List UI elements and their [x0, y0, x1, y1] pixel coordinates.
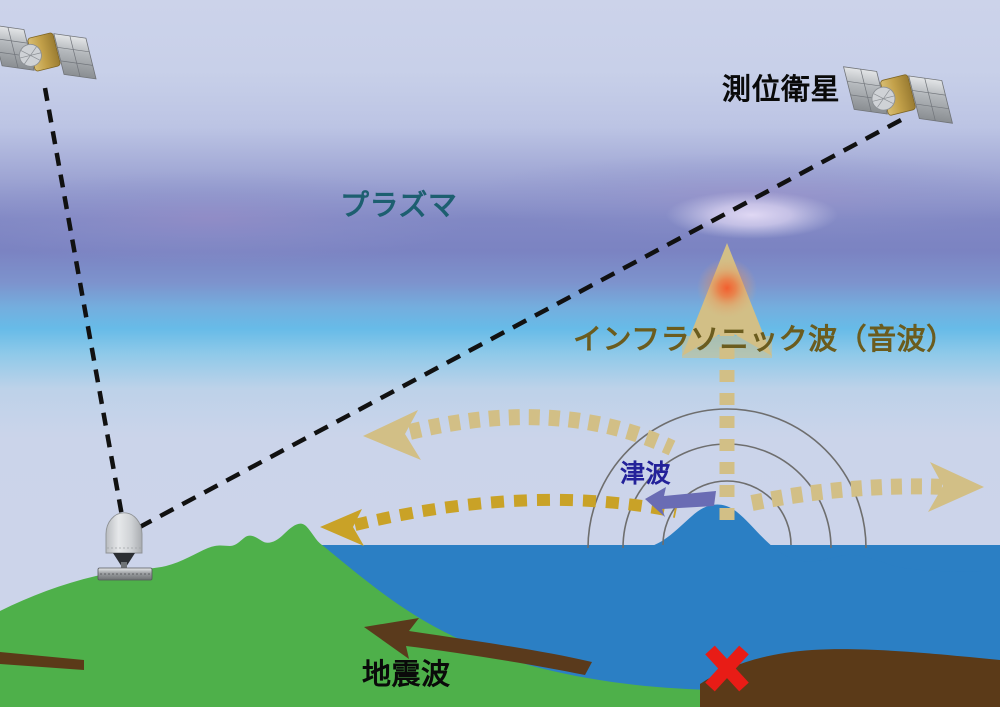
ground-station[interactable]: [98, 513, 152, 580]
label-plasma: プラズマ: [340, 192, 457, 221]
label-seismic-wave: 地震波: [362, 661, 451, 690]
satellite-right[interactable]: [844, 44, 953, 145]
satellite-right-panel-starboard: [909, 68, 953, 130]
ground-station-radome: [106, 513, 142, 553]
label-positioning-satellite: 測位衛星: [722, 76, 840, 105]
satellite-left[interactable]: [0, 4, 96, 101]
label-infrasonic-wave: インフラソニック波（音波）: [573, 326, 956, 355]
diagram-canvas: プラズマ 測位衛星 インフラソニック波（音波） 津波 地震波: [0, 0, 1000, 707]
satellite-left-panel-starboard: [54, 26, 96, 86]
label-tsunami: 津波: [620, 462, 671, 487]
